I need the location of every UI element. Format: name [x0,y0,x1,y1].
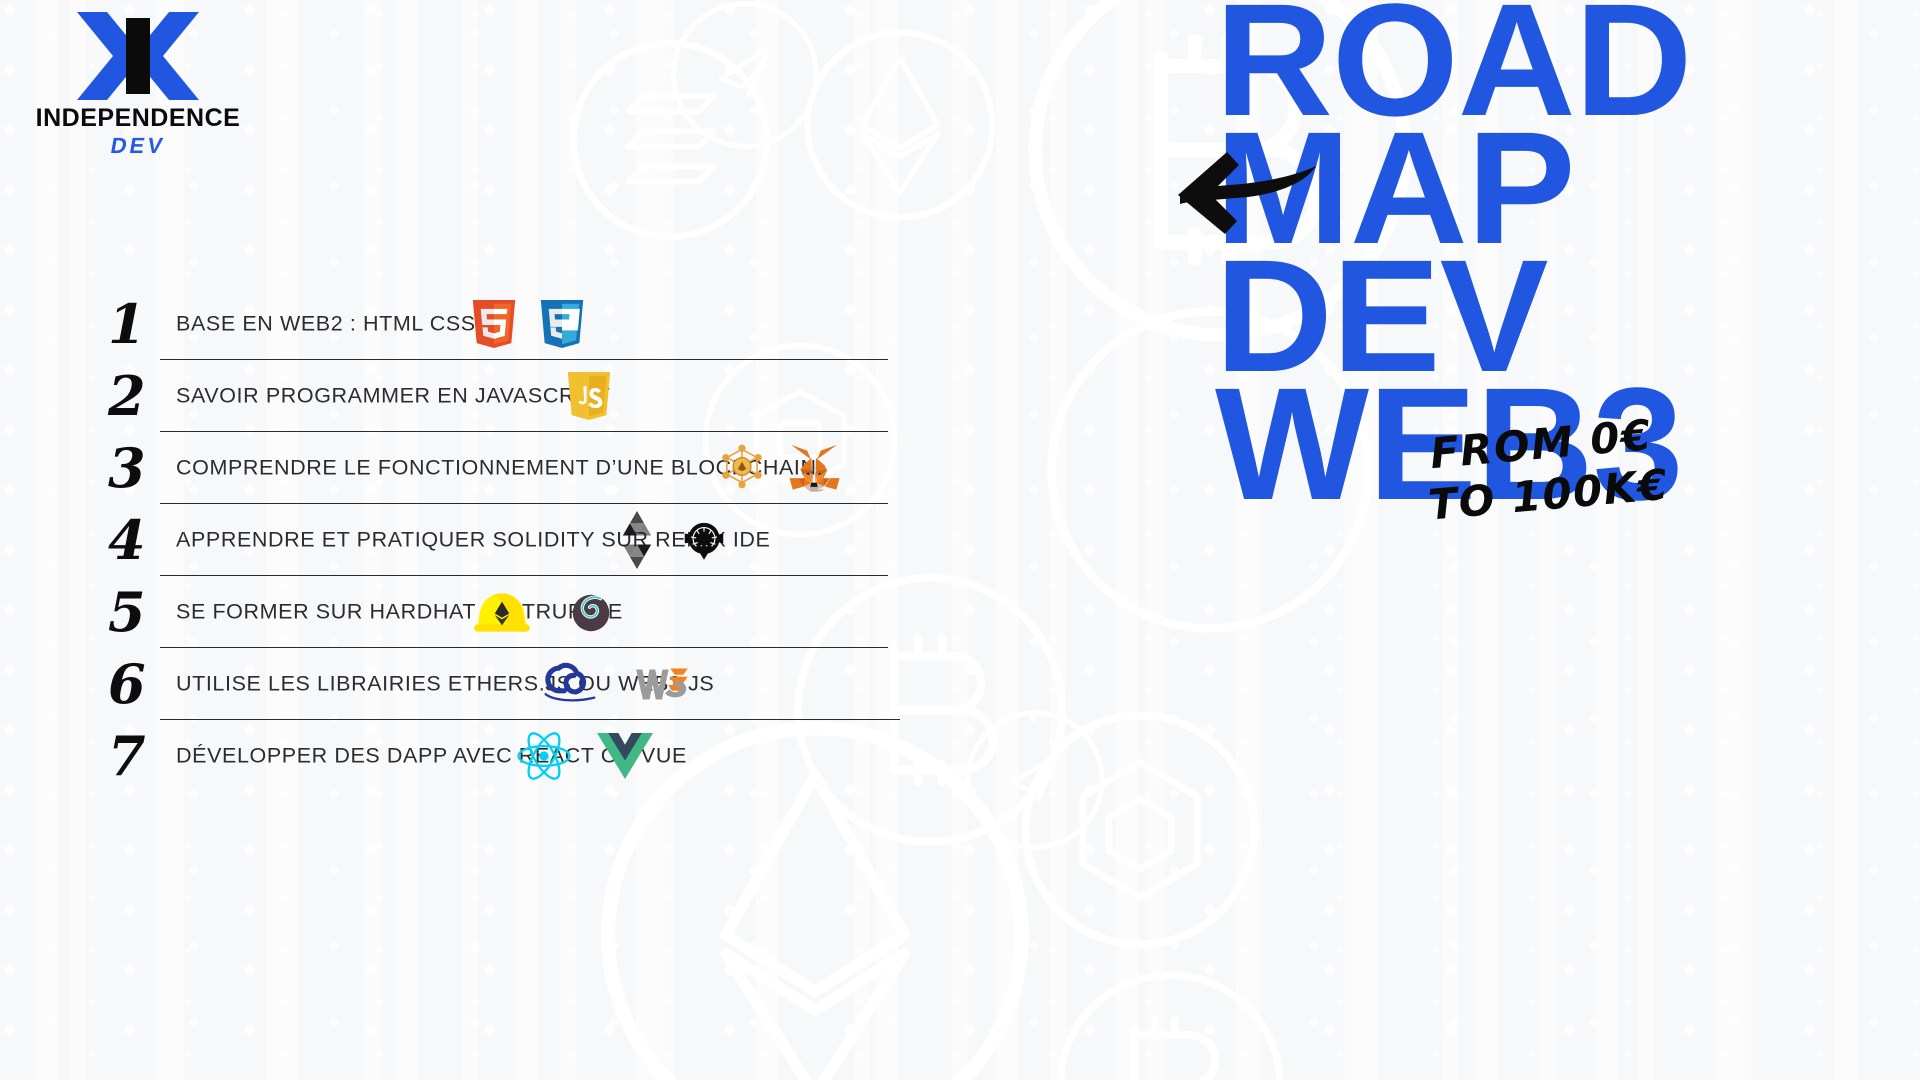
step-label: BASE EN WEB2 : HTML CSSS [176,312,491,337]
react-atom-icon [515,729,573,783]
brand-logo: INDEPENDENCE DEV [18,8,258,157]
brand-sub: DEV [16,135,260,157]
step-icons [716,442,840,494]
step-icons [616,511,730,569]
roadmap-item-1[interactable]: 1 BASE EN WEB2 : HTML CSSS [108,288,938,360]
step-number: 7 [108,729,164,783]
roadmap-item-4[interactable]: 4 APPRENDRE ET PRATIQUER SOLIDITY SUR RE… [108,504,938,576]
step-number: 2 [108,369,164,423]
bitcoin-coin-watermark [1045,960,1295,1080]
curved-left-arrow-icon [1120,148,1320,243]
step-number: 1 [108,297,164,351]
step-icons [565,367,613,425]
x-arrows-logo-icon [73,8,203,104]
step-icons [532,655,694,713]
solidity-icon [616,511,658,569]
step-icons [470,296,586,352]
vuejs-icon [597,730,653,782]
ethereum-coin-watermark [795,20,1005,230]
step-number: 5 [108,585,164,639]
blockchain-cube-watermark [1010,700,1270,960]
step-icons [471,586,615,638]
roadmap-item-7[interactable]: 7 DÉVELOPPER DES DAPP AVEC REACT OU VUE [108,720,938,792]
roadmap-item-6[interactable]: 6 UTILISE LES LIBRAIRIES ETHERS.JS OU WE… [108,648,938,720]
brand-name: INDEPENDENCE [18,106,258,131]
step-number: 4 [108,513,164,567]
roadmap-list: 1 BASE EN WEB2 : HTML CSSS 2 SAVOIR PROG… [108,288,938,792]
ton-coin-watermark [955,700,1115,860]
roadmap-item-3[interactable]: 3 COMPRENDRE LE FONCTIONNEMENT D’UNE BLO… [108,432,938,504]
javascript-icon [565,367,613,425]
ethersjs-cloud-icon [532,655,600,713]
hardhat-helmet-icon [471,586,533,638]
step-label: SAVOIR PROGRAMMER EN JAVASCRIPT [176,384,610,409]
roadmap-item-5[interactable]: 5 SE FORMER SUR HARDHAT OU TRUFFLE [108,576,938,648]
step-number: 6 [108,657,164,711]
metamask-fox-icon [788,443,840,493]
web3js-icon [632,655,694,713]
solana-coin-watermark [560,30,780,250]
css3-icon [538,296,586,352]
html5-icon [470,296,518,352]
step-icons [515,729,653,783]
handwritten-note: FROM 0€ TO 100K€ [1428,408,1670,531]
roadmap-item-2[interactable]: 2 SAVOIR PROGRAMMER EN JAVASCRIPT [108,360,938,432]
blockchain-network-icon [716,442,768,494]
truffle-sphere-icon [567,586,615,638]
step-number: 3 [108,441,164,495]
remix-ide-icon [678,512,730,568]
ton-coin-watermark [660,0,830,160]
